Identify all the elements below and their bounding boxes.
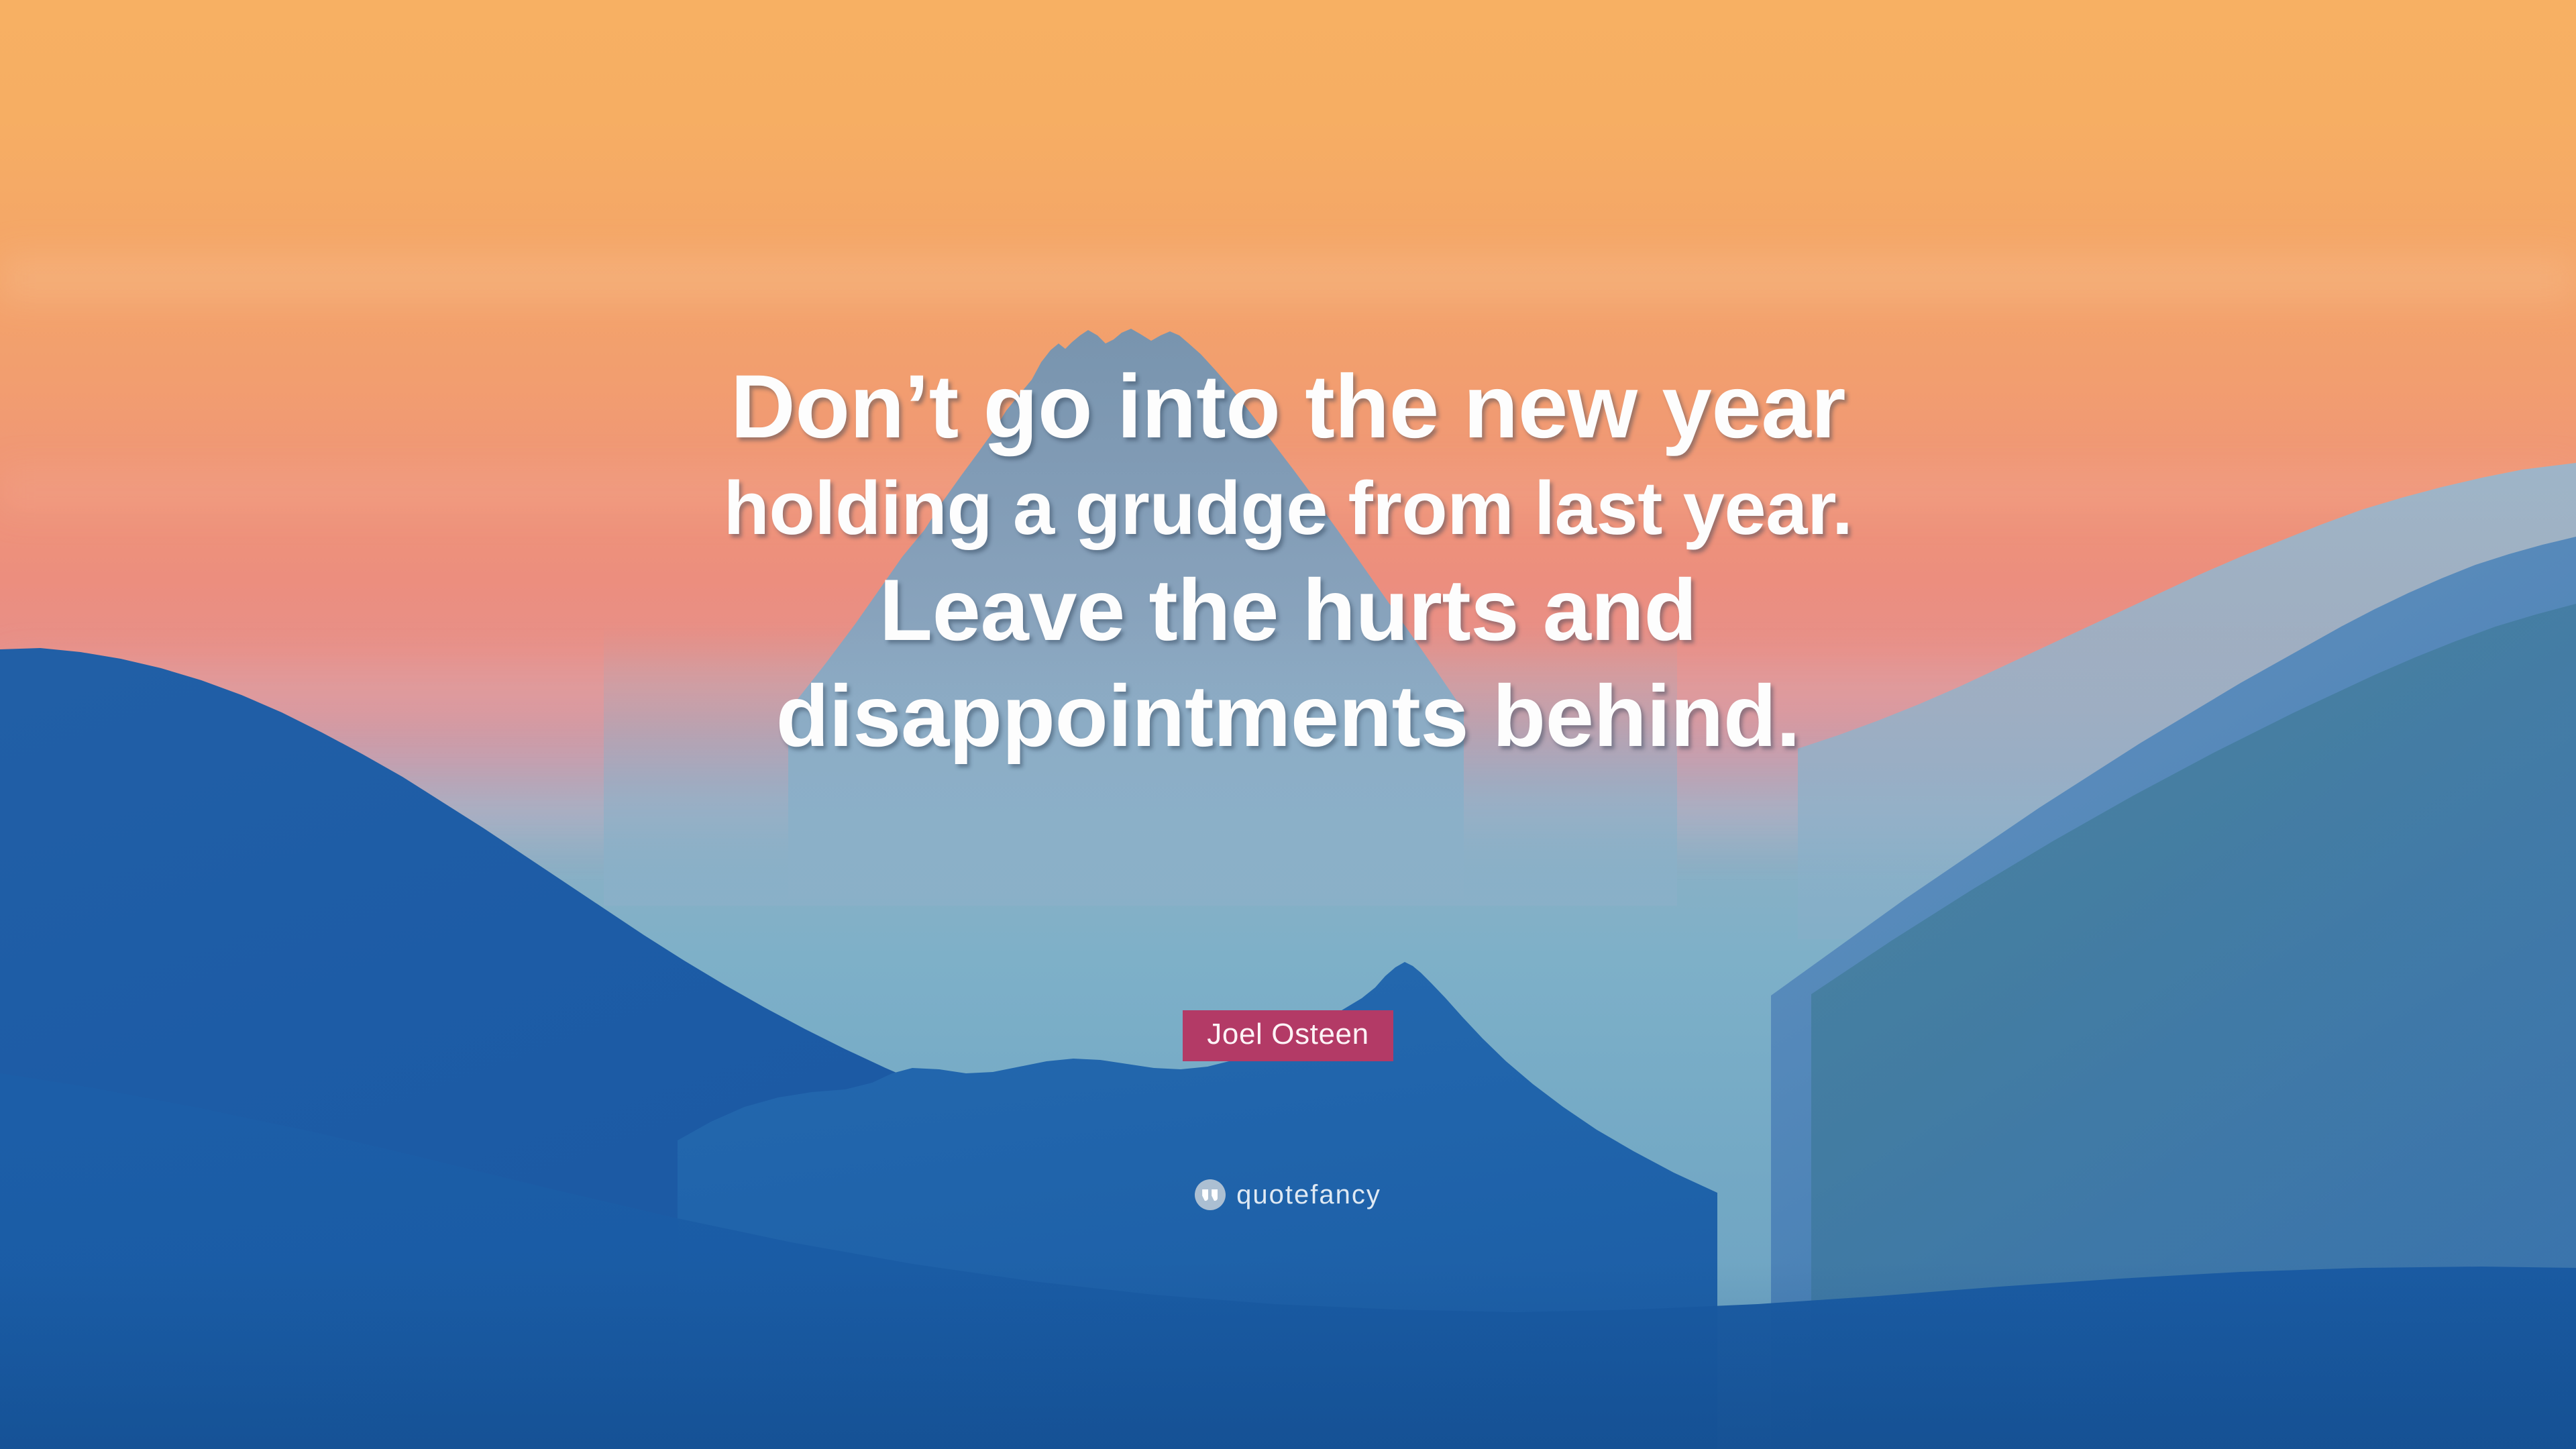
brand-name: quotefancy <box>1236 1181 1381 1208</box>
quotefancy-watermark[interactable]: quotefancy <box>0 1179 2576 1210</box>
quote-line-3: Leave the hurts and <box>0 566 2576 653</box>
quote-text-block: Don’t go into the new year holding a gru… <box>0 362 2576 759</box>
quote-mark-icon <box>1195 1179 1226 1210</box>
quote-image: Don’t go into the new year holding a gru… <box>0 0 2576 1449</box>
quote-line-4: disappointments behind. <box>0 672 2576 759</box>
author-name-badge[interactable]: Joel Osteen <box>1183 1010 1393 1061</box>
quote-line-2: holding a grudge from last year. <box>0 471 2576 546</box>
author-attribution: Joel Osteen <box>0 1010 2576 1061</box>
quote-line-1: Don’t go into the new year <box>0 362 2576 452</box>
